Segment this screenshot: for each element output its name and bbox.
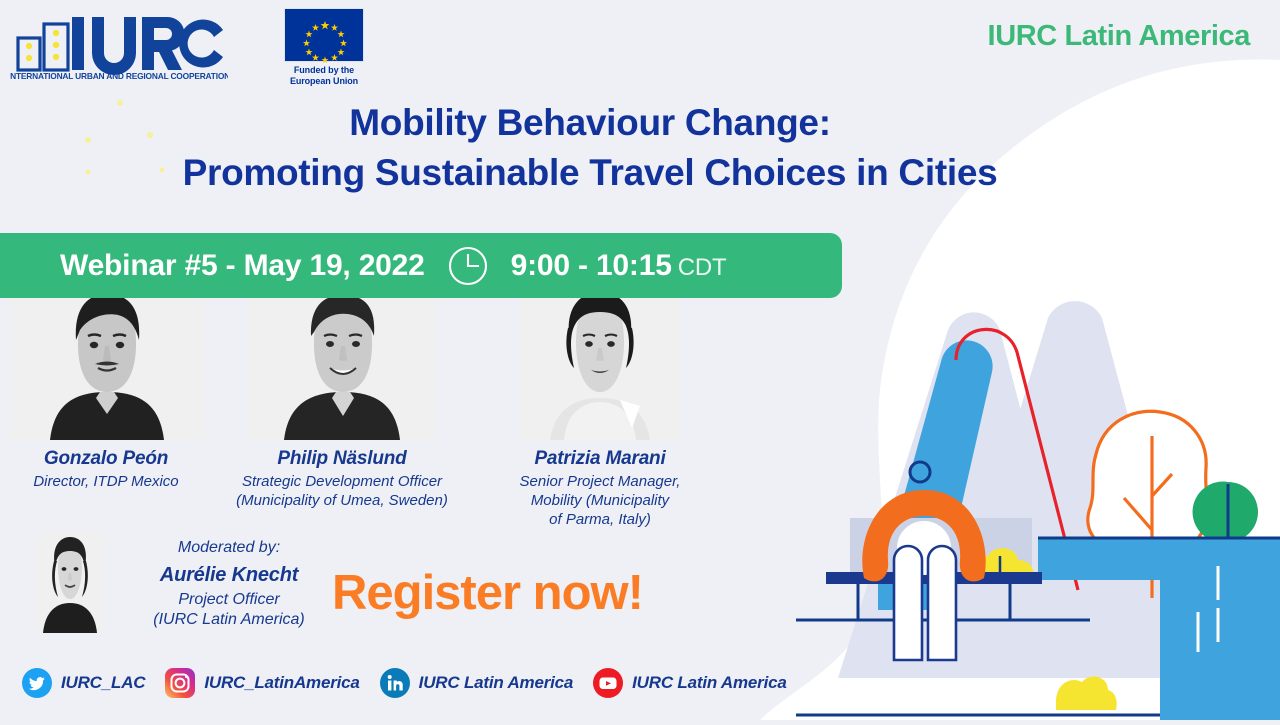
city-mobility-illustration: [760, 260, 1280, 720]
eu-caption-line1: Funded by the: [294, 65, 354, 75]
title-line-2: Promoting Sustainable Travel Choices in …: [0, 148, 1180, 198]
title-line-1: Mobility Behaviour Change:: [0, 98, 1180, 148]
speaker-photo-0: [10, 288, 205, 440]
eu-caption: Funded by the European Union: [278, 65, 370, 87]
eu-funding-badge: Funded by the European Union: [278, 8, 370, 90]
social-item-twitter[interactable]: IURC_LAC: [22, 668, 145, 698]
page-title: Mobility Behaviour Change: Promoting Sus…: [0, 98, 1180, 198]
linkedin-icon[interactable]: [380, 668, 410, 698]
timezone-label: CDT: [678, 254, 727, 281]
twitter-icon[interactable]: [22, 668, 52, 698]
webinar-date-label: Webinar #5 - May 19, 2022: [60, 249, 425, 283]
moderator-section: Moderated by: Aurélie Knecht Project Off…: [35, 533, 339, 633]
speaker-text-2: Patrizia Marani Senior Project Manager, …: [478, 448, 722, 529]
speaker-text-0: Gonzalo Peón Director, ITDP Mexico: [0, 448, 212, 491]
date-time-banner: Webinar #5 - May 19, 2022 9:00 - 10:15CD…: [0, 233, 842, 298]
speaker-name-1: Philip Näslund: [204, 448, 480, 470]
social-handle-youtube: IURC Latin America: [632, 673, 786, 693]
time-value: 9:00 - 10:15: [511, 249, 672, 282]
social-handle-linkedin: IURC Latin America: [419, 673, 573, 693]
speaker-role-2: Senior Project Manager, Mobility (Munici…: [478, 472, 722, 529]
clock-icon: [447, 245, 489, 287]
social-handle-twitter: IURC_LAC: [61, 673, 145, 693]
brand-iurc-latin-america: IURC Latin America: [988, 20, 1250, 53]
register-now-cta[interactable]: Register now!: [332, 565, 643, 621]
eu-caption-line2: European Union: [290, 76, 358, 86]
social-item-youtube[interactable]: IURC Latin America: [593, 668, 786, 698]
moderator-text: Moderated by: Aurélie Knecht Project Off…: [119, 533, 339, 633]
social-bar: IURC_LAC: [22, 668, 787, 698]
poster-canvas: INTERNATIONAL URBAN AND REGIONAL COOPERA…: [0, 0, 1280, 720]
logo-tagline: INTERNATIONAL URBAN AND REGIONAL COOPERA…: [10, 71, 228, 81]
social-handle-instagram: IURC_LatinAmerica: [204, 673, 359, 693]
moderator-name: Aurélie Knecht: [119, 564, 339, 587]
speaker-text-1: Philip Näslund Strategic Development Off…: [204, 448, 480, 510]
speaker-role-0: Director, ITDP Mexico: [0, 472, 212, 491]
webinar-time-label: 9:00 - 10:15CDT: [511, 249, 727, 283]
iurc-logo: INTERNATIONAL URBAN AND REGIONAL COOPERA…: [10, 12, 228, 82]
social-item-linkedin[interactable]: IURC Latin America: [380, 668, 573, 698]
speaker-name-0: Gonzalo Peón: [0, 448, 212, 470]
social-item-instagram[interactable]: IURC_LatinAmerica: [165, 668, 359, 698]
moderator-role: Project Officer (IURC Latin America): [119, 590, 339, 630]
moderator-photo: [35, 533, 105, 633]
speaker-name-2: Patrizia Marani: [478, 448, 722, 470]
eu-flag-icon: [284, 8, 364, 62]
speaker-role-1: Strategic Development Officer (Municipal…: [204, 472, 480, 510]
speaker-photo-2: [520, 288, 680, 440]
youtube-icon[interactable]: [593, 668, 623, 698]
instagram-icon[interactable]: [165, 668, 195, 698]
moderator-intro: Moderated by:: [119, 539, 339, 557]
speaker-photo-1: [248, 288, 436, 440]
